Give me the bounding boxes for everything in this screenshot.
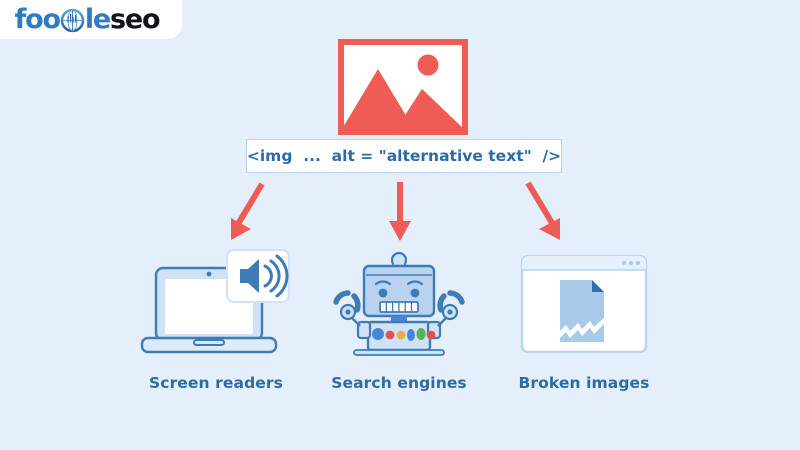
robot-icon [324, 248, 474, 360]
arrow-to-search-engines [389, 182, 411, 241]
brand-logo[interactable]: foo [0, 0, 182, 39]
alt-attribute-code-box: <img ... alt = "alternative text" /> [246, 139, 562, 173]
image-placeholder-icon [338, 39, 468, 135]
arrow-to-screen-readers [231, 184, 262, 240]
logo-text-foo: foo [15, 6, 60, 33]
outcome-search-engines: Search engines [299, 248, 499, 392]
alt-attribute-code-text: <img ... alt = "alternative text" /> [247, 147, 561, 165]
logo-wordmark: foo [15, 6, 160, 33]
globe-icon [60, 8, 85, 33]
logo-text-seo: seo [110, 6, 159, 33]
broken-image-browser-icon [514, 248, 654, 360]
outcome-label-search-engines: Search engines [331, 374, 467, 392]
logo-text-le: le [85, 6, 110, 33]
outcome-broken-images: Broken images [484, 248, 684, 392]
outcome-screen-readers: Screen readers [116, 248, 316, 392]
torn-document-icon [558, 280, 604, 342]
laptop-with-speaker-icon [132, 248, 300, 360]
outcome-label-screen-readers: Screen readers [149, 374, 283, 392]
infographic-canvas: foo [0, 0, 800, 450]
speaker-icon [227, 250, 289, 302]
outcome-label-broken-images: Broken images [519, 374, 650, 392]
arrow-to-broken-images [528, 183, 560, 240]
